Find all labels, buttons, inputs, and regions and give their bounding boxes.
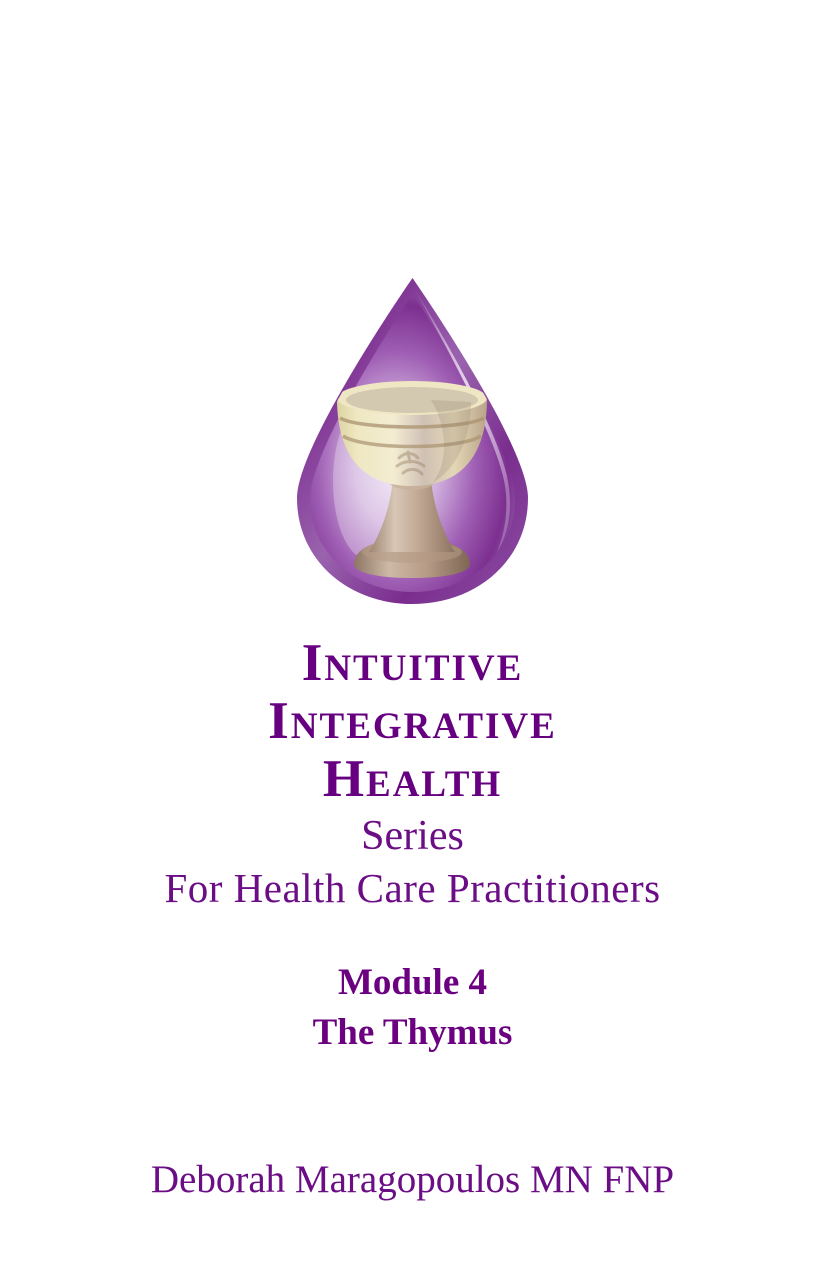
book-cover: DMAR®: [0, 0, 825, 1275]
series-heading: Intuitive Integrative Health: [0, 634, 825, 808]
author-byline: Deborah Maragopoulos MN FNP: [0, 1157, 825, 1203]
page-title: DMAR®: [0, 152, 825, 230]
logo-svg: [281, 276, 544, 608]
module-info: Module 4 The Thymus: [0, 958, 825, 1058]
module-topic: The Thymus: [0, 1008, 825, 1058]
series-audience: For Health Care Practitioners: [0, 862, 825, 914]
module-number: Module 4: [0, 958, 825, 1008]
author-name: Deborah Maragopoulos MN FNP: [0, 1157, 825, 1203]
series-line-1: Intuitive: [0, 634, 825, 692]
series-line-2: Integrative: [0, 692, 825, 750]
series-line-3: Health: [0, 750, 825, 808]
droplet-chalice-logo: [281, 276, 544, 608]
series-kicker: Series: [0, 810, 825, 862]
series-subtitle: Series For Health Care Practitioners: [0, 810, 825, 914]
